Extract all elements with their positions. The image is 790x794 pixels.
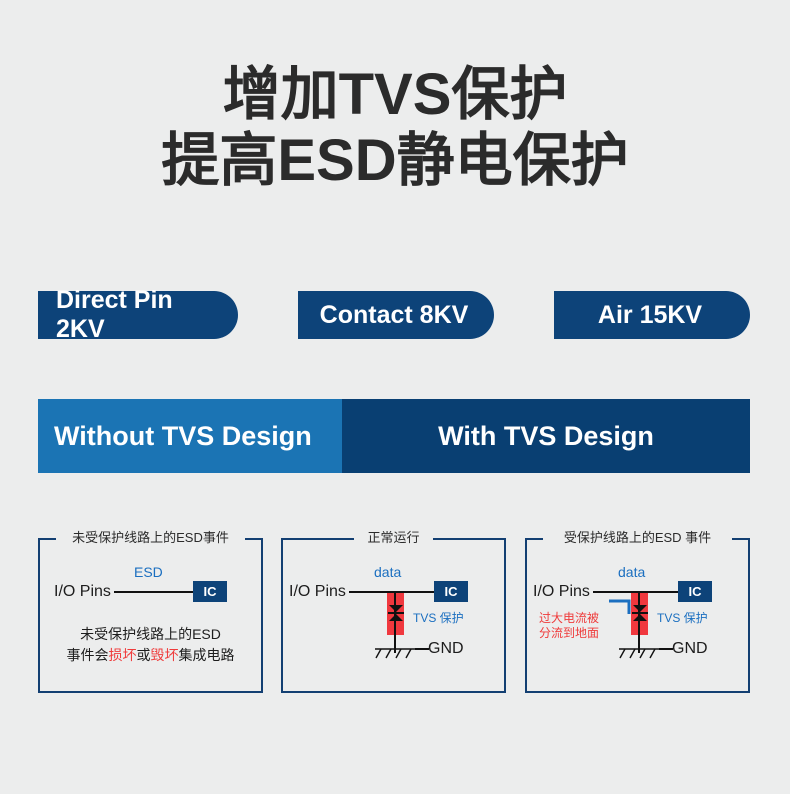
tvs-diode-symbol <box>384 601 408 625</box>
diagram-box-protected: 受保护线路上的ESD 事件 I/O Pins data IC 过大电流被 分流到… <box>525 538 750 693</box>
ground-wire <box>415 648 429 650</box>
ground-symbol <box>617 647 661 663</box>
banner-without-tvs: Without TVS Design <box>38 399 342 473</box>
overcurrent-note-line-1: 过大电流被 <box>539 611 599 625</box>
diagram-box-unprotected-content: I/O Pins ESD IC 未受保护线路上的ESD 事件会损坏或毁坏集成电路 <box>38 538 263 693</box>
ground-wire <box>659 648 673 650</box>
title-line-2: 提高ESD静电保护 <box>0 128 790 194</box>
title-line-1: 增加TVS保护 <box>0 62 790 128</box>
data-signal-label: data <box>374 564 401 580</box>
io-pins-label: I/O Pins <box>54 583 111 601</box>
tvs-diode-symbol <box>628 601 652 625</box>
page-title: 增加TVS保护 提高ESD静电保护 <box>0 62 790 194</box>
banner-with-tvs-label: With TVS Design <box>438 421 654 452</box>
spec-pill-contact: Contact 8KV <box>298 291 494 339</box>
overcurrent-note-line-2: 分流到地面 <box>539 626 599 640</box>
caption-line-1: 未受保护线路上的ESD <box>38 624 263 645</box>
tvs-protection-label: TVS 保护 <box>413 609 464 626</box>
spec-pill-air: Air 15KV <box>554 291 750 339</box>
gnd-label: GND <box>672 640 708 658</box>
ic-chip-box: IC <box>678 581 712 602</box>
esd-signal-label: ESD <box>134 564 163 580</box>
ground-symbol <box>373 647 417 663</box>
banner-with-tvs: With TVS Design <box>342 399 750 473</box>
banner-without-tvs-label: Without TVS Design <box>54 421 312 452</box>
diagram-box-unprotected: 未受保护线路上的ESD事件 I/O Pins ESD IC 未受保护线路上的ES… <box>38 538 263 693</box>
spec-pill-row: Direct Pin 2KV Contact 8KV Air 15KV <box>0 291 790 343</box>
tvs-protection-label: TVS 保护 <box>657 609 708 626</box>
gnd-label: GND <box>428 640 464 658</box>
signal-wire <box>114 591 194 593</box>
diagram-box-normal: 正常运行 I/O Pins data IC GND TV <box>281 538 506 693</box>
ic-chip-box: IC <box>434 581 468 602</box>
caption-part-b: 或 <box>137 647 151 663</box>
io-pins-label: I/O Pins <box>533 583 590 601</box>
caption-part-a: 事件会 <box>67 647 109 663</box>
caption-damage-2: 毁坏 <box>151 647 179 663</box>
data-signal-label: data <box>618 564 645 580</box>
diagram-row: 未受保护线路上的ESD事件 I/O Pins ESD IC 未受保护线路上的ES… <box>38 538 750 693</box>
overcurrent-note: 过大电流被 分流到地面 <box>531 611 607 641</box>
spec-pill-direct-pin: Direct Pin 2KV <box>38 291 238 339</box>
comparison-banner: Without TVS Design With TVS Design <box>38 399 750 473</box>
ic-chip-box: IC <box>193 581 227 602</box>
caption-part-c: 集成电路 <box>179 647 235 663</box>
caption-line-2: 事件会损坏或毁坏集成电路 <box>38 645 263 666</box>
diagram-box-protected-content: I/O Pins data IC 过大电流被 分流到地面 <box>525 538 750 693</box>
caption-damage-1: 损坏 <box>109 647 137 663</box>
diagram-box-normal-content: I/O Pins data IC GND TVS 保护 <box>281 538 506 693</box>
io-pins-label: I/O Pins <box>289 583 346 601</box>
